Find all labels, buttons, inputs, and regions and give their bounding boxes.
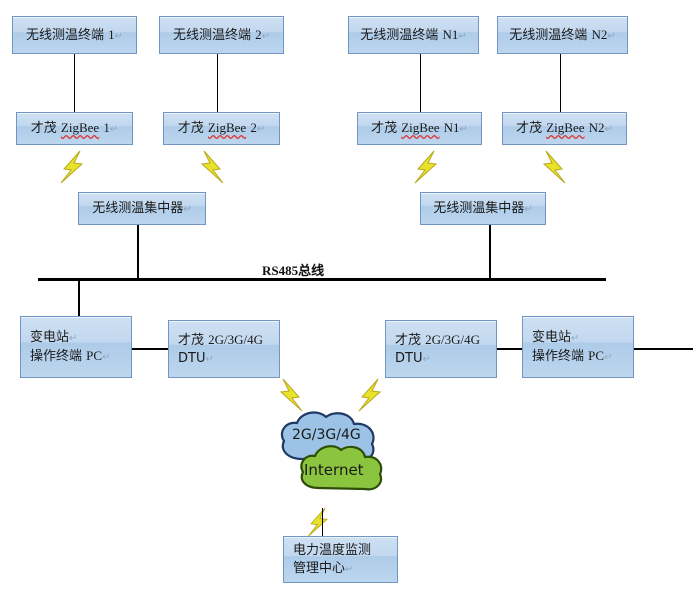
- link-sensorn1-zigbeen1: [420, 54, 421, 112]
- network-topology-diagram: 无线测温终端 1↵ 无线测温终端 2↵ 无线测温终端 N1↵ 无线测温终端 N2…: [0, 0, 693, 593]
- node-station-pc-right[interactable]: 变电站↵ 操作终端 PC↵: [522, 316, 634, 378]
- node-concentrator-left[interactable]: 无线测温集中器↵: [78, 192, 206, 225]
- link-concentrator-left-bus: [137, 225, 139, 280]
- bus-label: RS485总线: [262, 260, 324, 279]
- link-sensor1-zigbee1: [74, 54, 75, 112]
- node-label: 才茂 ZigBee 1↵: [25, 119, 124, 137]
- node-label: 无线测温终端 N1↵: [354, 26, 472, 44]
- node-zigbee-n2[interactable]: 才茂 ZigBee N2↵: [502, 112, 627, 145]
- node-label: 无线测温集中器↵: [86, 200, 197, 217]
- node-label-line1: 才茂 2G/3G/4G: [169, 331, 272, 349]
- lightning-bolt-icon-zigbee2: [196, 150, 226, 184]
- node-sensor-1[interactable]: 无线测温终端 1↵: [12, 16, 137, 54]
- rs485-bus-line: [38, 278, 606, 281]
- node-dtu-left[interactable]: 才茂 2G/3G/4G DTU↵: [168, 320, 280, 378]
- lightning-bolt-icon-dtu-left-cloud: [275, 378, 305, 412]
- link-sensor2-zigbee2: [217, 54, 218, 112]
- node-label: 才茂 ZigBee N2↵: [510, 119, 619, 137]
- link-station-right-external: [634, 348, 693, 350]
- link-concentrator-right-bus: [489, 225, 491, 280]
- node-label: 无线测温终端 1↵: [20, 26, 129, 44]
- node-zigbee-2[interactable]: 才茂 ZigBee 2↵: [163, 112, 280, 145]
- link-bus-station-left: [78, 280, 80, 316]
- lightning-bolt-icon-zigbee1: [58, 150, 88, 184]
- node-concentrator-right[interactable]: 无线测温集中器↵: [420, 192, 546, 225]
- node-label: 无线测温终端 2↵: [167, 26, 276, 44]
- node-label-line1: 变电站↵: [523, 329, 588, 346]
- node-label-line2: DTU↵: [169, 350, 223, 367]
- node-label: 才茂 ZigBee 2↵: [172, 119, 271, 137]
- node-label-line1: 电力温度监测: [284, 542, 380, 559]
- link-cloud-center: [322, 508, 323, 536]
- node-label: 无线测温集中器↵: [427, 200, 538, 217]
- node-label-line2: 操作终端 PC↵: [523, 347, 621, 365]
- node-label: 无线测温终端 N2↵: [503, 26, 621, 44]
- node-station-pc-left[interactable]: 变电站↵ 操作终端 PC↵: [20, 316, 132, 378]
- lightning-bolt-icon-dtu-right-cloud: [356, 378, 386, 412]
- link-dtu-right-station-right: [497, 348, 522, 350]
- node-label-line1: 才茂 2G/3G/4G: [386, 331, 489, 349]
- node-label-line1: 变电站↵: [21, 329, 86, 346]
- node-sensor-n1[interactable]: 无线测温终端 N1↵: [348, 16, 479, 54]
- node-zigbee-1[interactable]: 才茂 ZigBee 1↵: [16, 112, 133, 145]
- node-label: 才茂 ZigBee N1↵: [365, 119, 474, 137]
- cloud-internet-label: Internet: [304, 461, 364, 479]
- node-dtu-right[interactable]: 才茂 2G/3G/4G DTU↵: [385, 320, 497, 378]
- lightning-bolt-icon-zigbeen1: [412, 150, 442, 184]
- node-sensor-n2[interactable]: 无线测温终端 N2↵: [497, 16, 628, 54]
- cloud-2g3g4g-label: 2G/3G/4G: [292, 427, 361, 443]
- node-label-line2: DTU↵: [386, 350, 440, 367]
- node-sensor-2[interactable]: 无线测温终端 2↵: [159, 16, 284, 54]
- node-zigbee-n1[interactable]: 才茂 ZigBee N1↵: [357, 112, 482, 145]
- link-sensorn2-zigbeen2: [560, 54, 561, 112]
- link-station-left-dtu-left: [132, 348, 168, 350]
- node-label-line2: 管理中心↵: [284, 560, 362, 577]
- node-monitoring-center[interactable]: 电力温度监测 管理中心↵: [283, 536, 398, 583]
- lightning-bolt-icon-zigbeen2: [538, 150, 568, 184]
- node-label-line2: 操作终端 PC↵: [21, 347, 119, 365]
- lightning-bolt-icon-cloud-center: [304, 507, 334, 537]
